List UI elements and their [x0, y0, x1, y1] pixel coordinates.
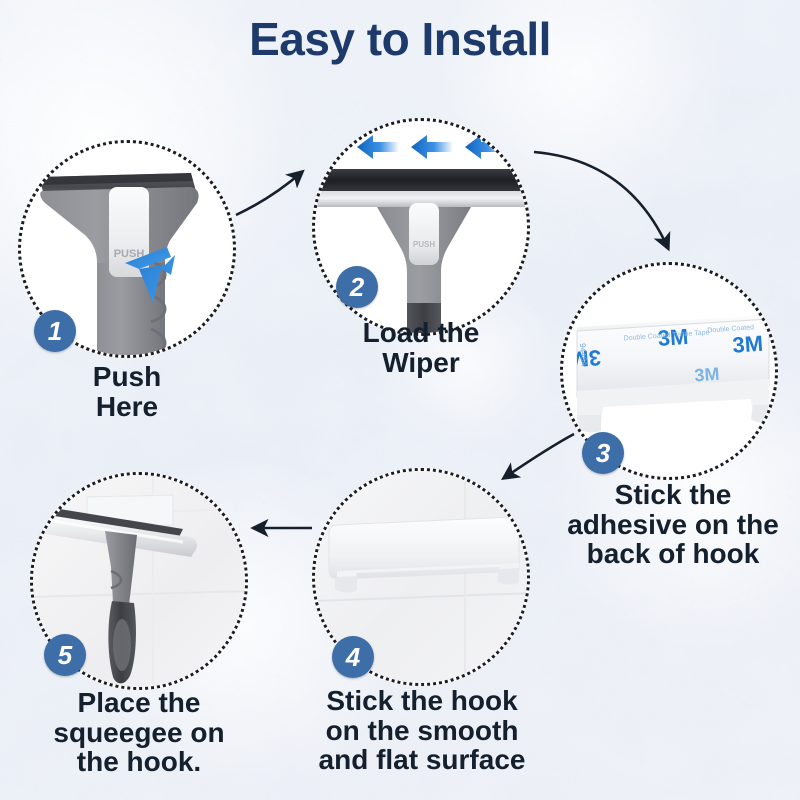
arrow-step3-to-step4	[504, 434, 574, 478]
arrow-step1-to-step2	[236, 172, 302, 215]
arrow-step2-to-step3	[534, 152, 668, 248]
svg-text:3M: 3M	[694, 364, 720, 386]
step-4-caption: Stick the hook on the smooth and flat su…	[296, 686, 548, 775]
step-3-caption: Stick the adhesive on the back of hook	[548, 480, 798, 569]
step-2-badge: 2	[336, 266, 378, 308]
step-5-caption: Place the squeegee on the hook.	[18, 688, 260, 777]
step-1-caption: Push Here	[18, 362, 236, 421]
svg-text:3M: 3M	[732, 331, 764, 358]
step-3-badge: 3	[582, 432, 624, 474]
step-4-badge: 4	[332, 636, 374, 678]
svg-text:PUSH: PUSH	[413, 240, 435, 249]
svg-text:9448A: 9448A	[578, 343, 589, 367]
step-2-caption: Load the Wiper	[302, 318, 540, 377]
page-title: Easy to Install	[0, 12, 800, 66]
infographic-canvas: Easy to Install	[0, 0, 800, 800]
step-1-badge: 1	[34, 310, 76, 352]
step-5-badge: 5	[44, 634, 86, 676]
direction-arrows-icon	[357, 135, 507, 159]
